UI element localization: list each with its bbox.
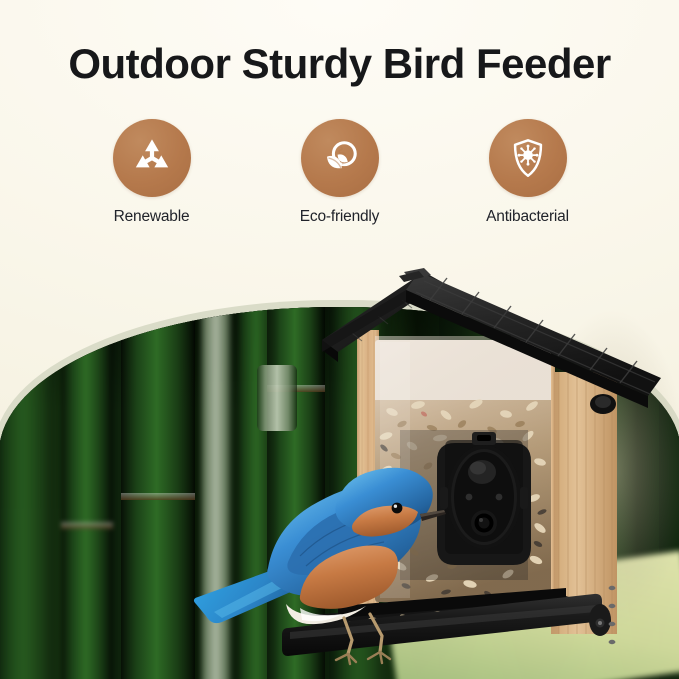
- feature-badge-eco-friendly: Eco-friendly: [292, 119, 388, 226]
- photo-arch-rim: [0, 300, 679, 679]
- feature-badge-antibacterial: Antibacterial: [480, 119, 576, 226]
- globe-leaf-icon: [301, 119, 379, 197]
- feature-badge-renewable: Renewable: [104, 119, 200, 226]
- marketing-page: Outdoor Sturdy Bird Feeder Renewable: [0, 0, 679, 679]
- page-title: Outdoor Sturdy Bird Feeder: [0, 40, 679, 88]
- feature-badge-label: Renewable: [114, 208, 190, 226]
- feature-badge-label: Eco-friendly: [300, 208, 379, 226]
- recycle-icon: [113, 119, 191, 197]
- shield-germ-icon: [489, 119, 567, 197]
- feature-badge-label: Antibacterial: [486, 208, 569, 226]
- feature-badge-row: Renewable Eco-friendly: [0, 119, 679, 226]
- bamboo-stalk: [257, 365, 297, 431]
- bamboo-stalk: [267, 307, 325, 679]
- bamboo-stalk: [61, 307, 113, 679]
- bamboo-stalk: [121, 307, 195, 679]
- bamboo-stalk: [329, 307, 389, 679]
- photo-inner: [0, 307, 679, 679]
- bamboo-stalk: [199, 307, 233, 679]
- bamboo-stalk: [0, 307, 57, 679]
- product-lifestyle-photo: [0, 300, 679, 679]
